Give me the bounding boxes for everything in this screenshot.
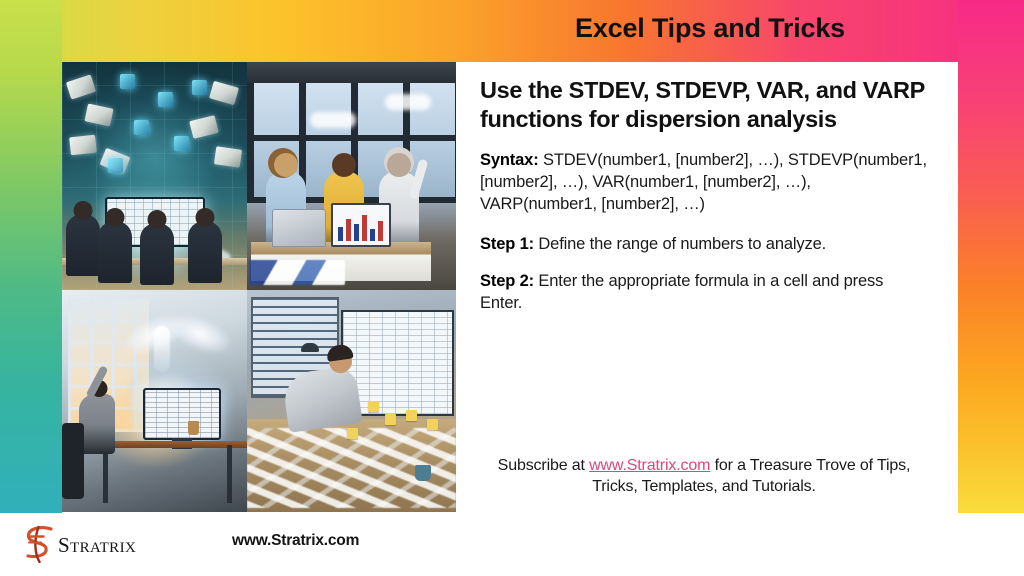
seated-person [66,214,100,276]
data-cube [174,136,189,151]
sticky-note [406,410,417,421]
desk-leg [227,445,232,503]
step-2-label: Step 2: [480,272,534,290]
coffee-mug [415,465,431,481]
headline: Use the STDEV, STDEVP, VAR, and VARP fun… [480,76,928,134]
seated-person [98,221,132,283]
stratrix-link[interactable]: www.Stratrix.com [589,457,710,474]
desk-leg [103,445,108,503]
gradient-band-right [958,0,1024,513]
content-card: Use the STDEV, STDEVP, VAR, and VARP fun… [458,62,958,512]
desk-lamp [301,343,319,352]
data-cube [192,80,207,95]
step-1: Step 1: Define the range of numbers to a… [480,233,928,255]
footer-url: www.Stratrix.com [232,532,359,550]
cloud [385,94,431,110]
subscribe-callout: Subscribe at www.Stratrix.com for a Trea… [480,455,928,499]
stratrix-s-swoosh-icon [24,525,56,563]
image-team-data-explosion [62,62,247,290]
sticky-note [427,419,438,430]
data-cube [120,74,135,89]
cloud [310,112,356,128]
seated-person [140,223,174,285]
chart-bar [378,221,383,241]
floating-book [214,146,242,167]
chart-bar [346,219,351,241]
page-title: Excel Tips and Tricks [470,14,950,44]
seated-woman [79,394,115,454]
step-1-label: Step 1: [480,235,534,253]
gradient-band-left [0,0,62,513]
step-1-text: Define the range of numbers to analyze. [534,235,826,253]
syntax-label: Syntax: [480,151,539,169]
chart-bar [362,215,367,241]
sticky-note [385,414,396,425]
office-chair [62,423,84,498]
image-cluttered-desk-analyst [247,290,456,512]
data-cube [158,92,173,107]
image-collage [62,62,456,512]
syntax-block: Syntax: STDEV(number1, [number2], …), ST… [480,149,928,215]
floating-book [69,135,97,156]
stratrix-logo: Stratrix [24,525,136,563]
ceiling-beam [247,62,456,83]
spreadsheet-monitor [143,388,221,440]
chart-bar [338,227,343,241]
syntax-text: STDEV(number1, [number2], …), STDEVP(num… [480,151,927,213]
step-2: Step 2: Enter the appropriate formula in… [480,270,928,314]
printed-reports [249,260,345,285]
laptop [272,209,326,247]
step-2-text: Enter the appropriate formula in a cell … [480,272,883,312]
chart-bar [370,229,375,241]
sticky-note [347,428,358,439]
image-angel-from-monitor [62,290,247,512]
chart-bar [354,224,359,241]
pencil-cup [188,421,199,435]
subscribe-prefix: Subscribe at [498,457,589,474]
logo-wordmark: Stratrix [58,535,136,556]
data-cube [108,158,123,173]
bar-chart-screen [331,203,391,247]
image-office-celebration [247,62,456,290]
seated-person [188,221,222,283]
data-cube [134,120,149,135]
sticky-note [368,401,379,412]
slide-canvas: Excel Tips and Tricks [0,0,1024,576]
slide-footer: Stratrix www.Stratrix.com [0,513,1024,576]
